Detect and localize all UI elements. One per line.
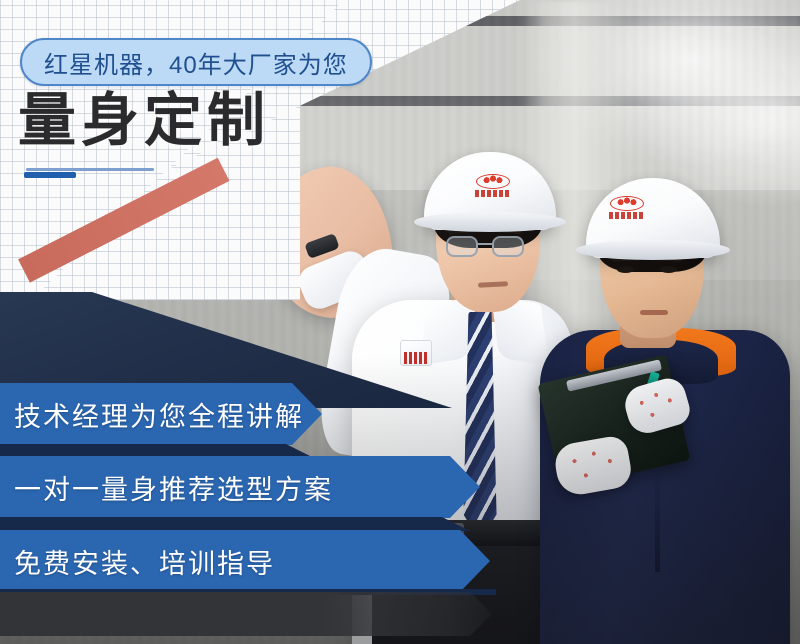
tagline-badge-label: 红星机器，40年大厂家为您 bbox=[44, 45, 348, 80]
feature-bar-2-body: 一对一量身推荐选型方案 bbox=[0, 456, 480, 518]
feature-bar-3-body: 免费安装、培训指导 bbox=[0, 530, 490, 592]
promo-banner: 红星机器，40年大厂家为您 量身定制 技术经理为您全程讲解 一对一量身推荐选型方… bbox=[0, 0, 800, 644]
feature-bar-1-shadow bbox=[0, 444, 314, 458]
feature-bar-1-body: 技术经理为您全程讲解 bbox=[0, 383, 322, 445]
headline-rule-thin bbox=[26, 168, 154, 171]
page-title: 量身定制 bbox=[18, 92, 270, 150]
feature-bar-2-shadow bbox=[0, 517, 470, 531]
feature-bar-2-label: 一对一量身推荐选型方案 bbox=[0, 468, 333, 507]
feature-bar-3-label: 免费安装、培训指导 bbox=[0, 542, 275, 581]
tagline-badge: 红星机器，40年大厂家为您 bbox=[20, 38, 372, 86]
headline-rule-thick bbox=[24, 172, 76, 178]
feature-bar-1-label: 技术经理为您全程讲解 bbox=[0, 395, 304, 434]
